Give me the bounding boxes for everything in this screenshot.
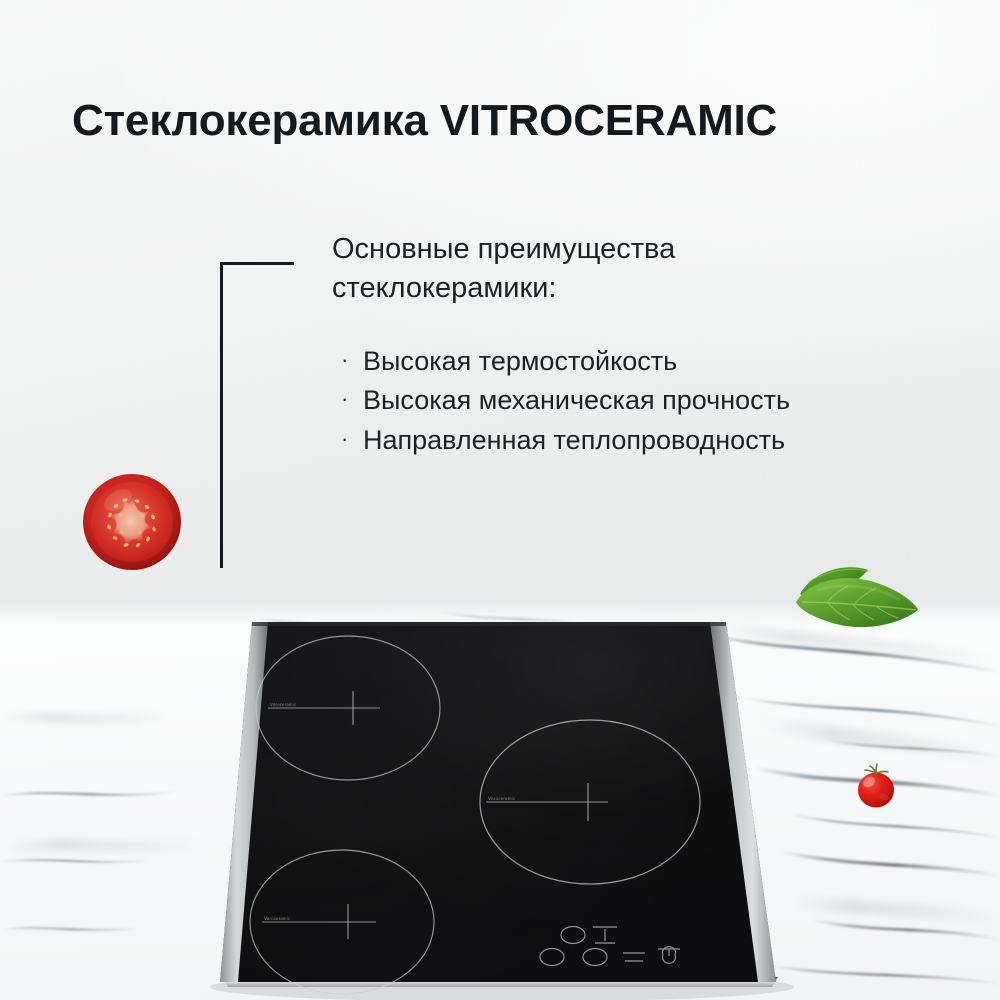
list-item: · Направленная теплопроводность <box>341 421 941 460</box>
vitroceramic-cooktop[interactable]: Vitroceramic Vitroceramic Vitroceramic <box>190 605 810 1000</box>
callout-subhead-line-1: Основные преимущества <box>332 230 802 269</box>
scene-stage: Vitroceramic Vitroceramic Vitroceramic <box>0 0 1000 1000</box>
callout-bracket-horizontal <box>220 262 294 265</box>
callout-bracket-vertical <box>220 262 223 568</box>
list-item: · Высокая механическая прочность <box>341 381 941 420</box>
list-item-label: Направленная теплопроводность <box>363 421 785 460</box>
bullet-marker: · <box>341 421 363 458</box>
cherry-tomato <box>851 752 901 812</box>
tomato-slice <box>80 470 184 574</box>
cooktop-top-bevel <box>252 622 726 626</box>
burner-label-rear-left: Vitroceramic <box>270 702 296 707</box>
cherry-tomato-stem <box>865 764 888 774</box>
cherry-tomato-body <box>858 773 894 808</box>
callout-bracket <box>220 262 294 568</box>
mint-leaves <box>788 552 924 644</box>
list-item-label: Высокая термостойкость <box>363 342 677 381</box>
list-item: · Высокая термостойкость <box>341 342 941 381</box>
burner-label-right: Vitroceramic <box>488 796 516 801</box>
list-item-label: Высокая механическая прочность <box>363 381 790 420</box>
bullet-marker: · <box>341 342 363 379</box>
bullet-marker: · <box>341 381 363 418</box>
benefits-list: · Высокая термостойкость · Высокая механ… <box>341 342 941 460</box>
page-title: Стеклокерамика VITROCERAMIC <box>72 96 932 146</box>
callout-subhead: Основные преимущества стеклокерамики: <box>332 230 802 309</box>
callout-subhead-line-2: стеклокерамики: <box>332 269 802 308</box>
burner-label-front-left: Vitroceramic <box>264 916 290 921</box>
